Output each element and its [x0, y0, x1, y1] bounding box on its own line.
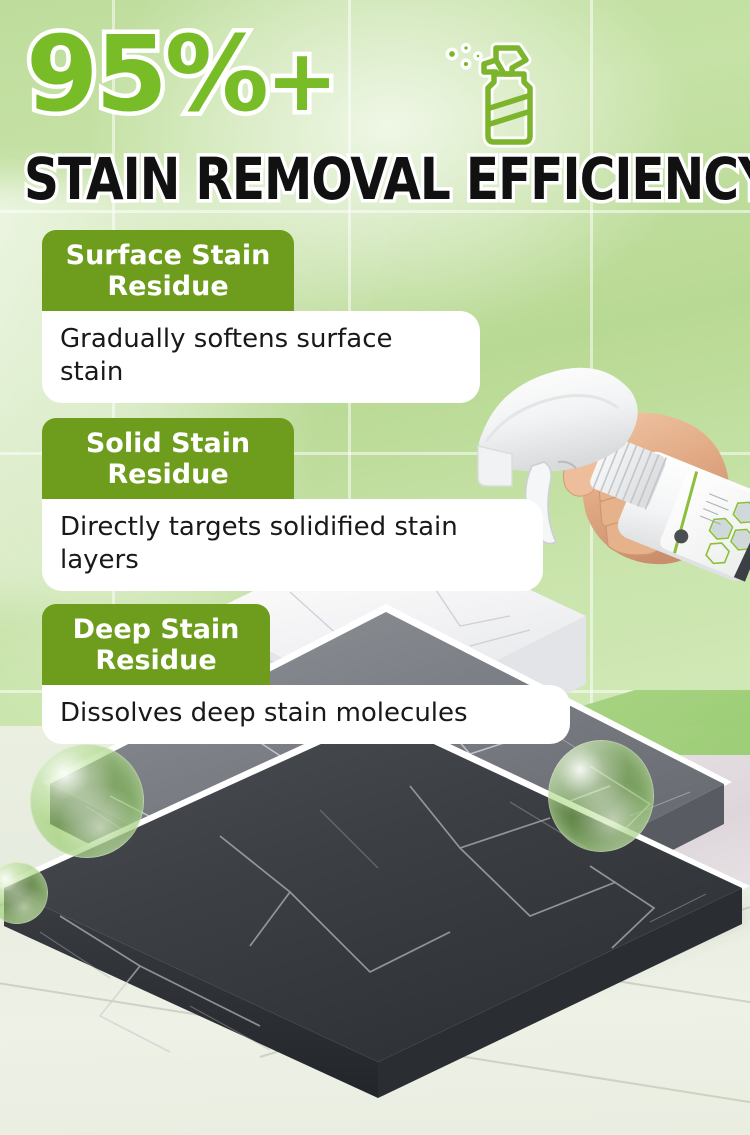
page-title: 95%+: [26, 22, 338, 126]
feature-body-text: Directly targets solidified stain layers: [42, 499, 543, 592]
headline-plus-sign: +: [266, 31, 338, 131]
feature-tag-label: Deep Stain Residue: [42, 604, 270, 685]
green-bubble-left: [30, 744, 144, 858]
feature-block-deep-stain: Deep Stain Residue Dissolves deep stain …: [42, 604, 570, 744]
feature-block-solid-stain: Solid Stain Residue Directly targets sol…: [42, 418, 543, 591]
green-bubble-right: [548, 740, 654, 852]
spray-bottle-icon: [432, 30, 544, 148]
feature-body-text: Dissolves deep stain molecules: [42, 685, 570, 744]
feature-body-text: Gradually softens surface stain: [42, 311, 480, 404]
headline-percent-value: 95%: [26, 13, 266, 135]
feature-block-surface-stain: Surface Stain Residue Gradually softens …: [42, 230, 480, 403]
headline-group: 95%+ STAIN REMOVAL EFFICIENCY: [0, 24, 750, 134]
feature-tag-label: Solid Stain Residue: [42, 418, 294, 499]
poster-root: 95%+ STAIN REMOVAL EFFICIENCY: [0, 0, 750, 1135]
headline-subtitle: STAIN REMOVAL EFFICIENCY: [24, 150, 750, 208]
feature-tag-label: Surface Stain Residue: [42, 230, 294, 311]
